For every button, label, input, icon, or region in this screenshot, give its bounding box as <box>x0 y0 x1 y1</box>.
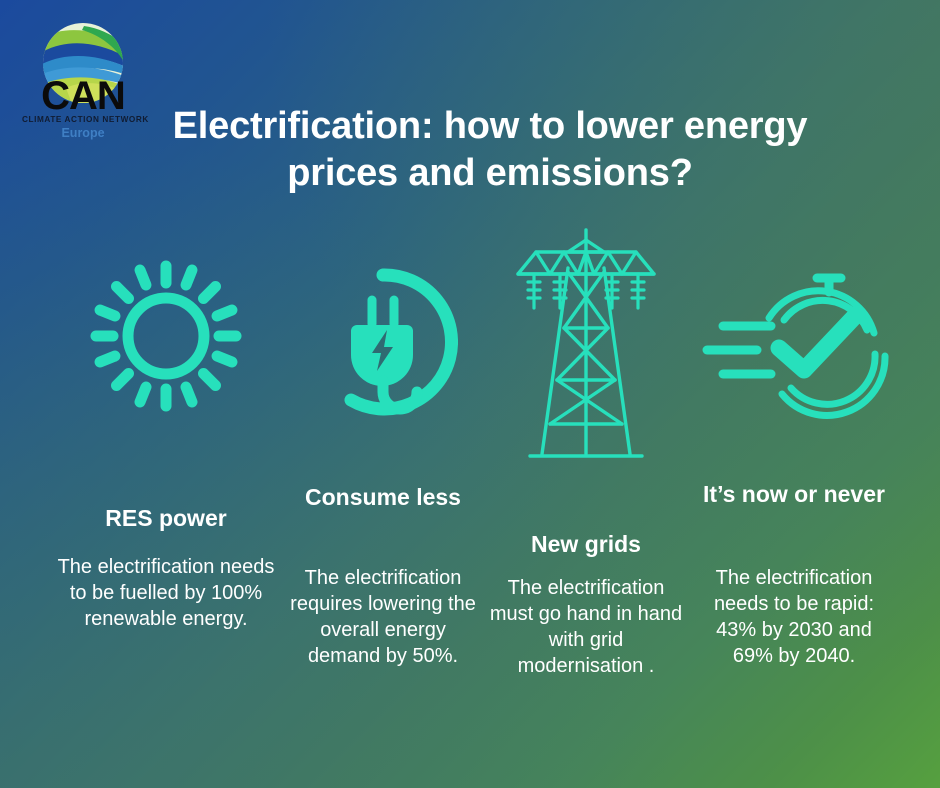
column-heading: It’s now or never <box>694 480 894 509</box>
column-heading: New grids <box>486 530 686 559</box>
column-heading: Consume less <box>288 483 478 512</box>
column-body: The electrification must go hand in hand… <box>486 575 686 679</box>
column-body: The electrification needs to be rapid: 4… <box>694 565 894 669</box>
column-body: The electrification needs to be fuelled … <box>48 554 284 632</box>
power-plug-icon <box>288 265 478 417</box>
page-title: Electrification: how to lower energy pri… <box>120 103 860 197</box>
sun-icon <box>48 250 284 416</box>
transmission-pylon-icon <box>486 225 686 470</box>
column-body: The electrification requires lowering th… <box>288 565 478 669</box>
column-heading: RES power <box>48 504 284 533</box>
infographic-poster: CAN CLIMATE ACTION NETWORK Europe Electr… <box>0 0 940 788</box>
stopwatch-check-icon <box>694 270 894 420</box>
